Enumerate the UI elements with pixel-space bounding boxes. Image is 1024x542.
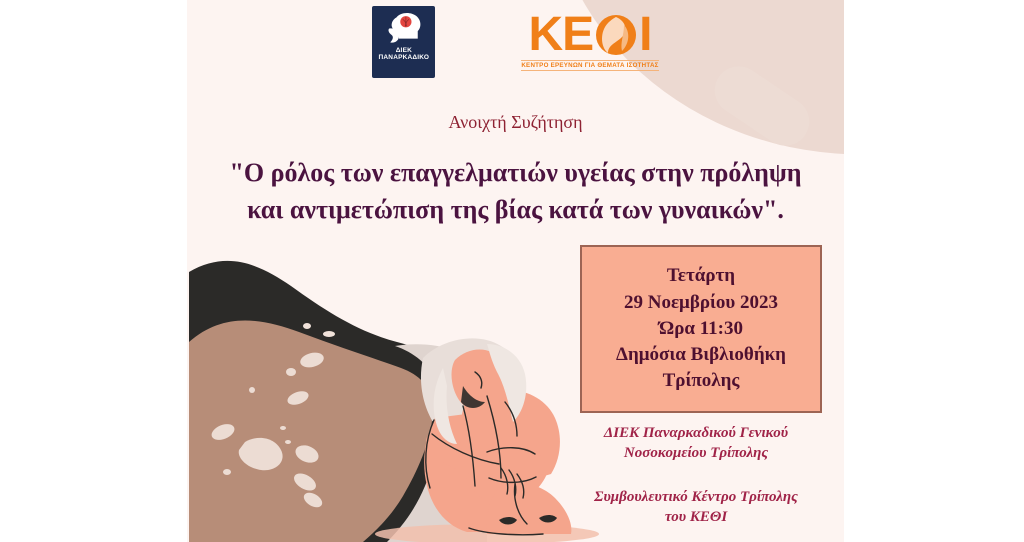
credit-1-line-2: Νοσοκομείου Τρίπολης [565,444,827,464]
logo-diek-panarkadiko: ΔΙΕΚ ΠΑΝΑΡΚΑΔΙΚΟ [372,6,435,78]
title-seg-2a: και αντι [247,195,336,224]
title-seg-2e: ιση της βίας κατά των γυναικών". [407,195,784,224]
logo-diek-line1: ΔΙΕΚ [396,47,412,54]
credit-2-line-1: Συμβουλευτικό Κέντρο Τρίπολης [565,488,827,508]
credit-1-line-1: ΔΙΕΚ Παναρκαδικού Γενικού [565,424,827,444]
event-date: 29 Νοεμβρίου 2023 [624,290,778,316]
organiser-credits: ΔΙΕΚ Παναρκαδικού Γενικού Νοσοκομείου Τρ… [565,424,827,528]
credit-2-line-2: του ΚΕΘΙ [565,508,827,528]
credit-block-2: Συμβουλευτικό Κέντρο Τρίπολης του ΚΕΘΙ [565,488,827,528]
logo-kethi-subtitle: ΚΕΝΤΡΟ ΕΡΕΥΝΩΝ ΓΙΑ ΘΕΜΑΤΑ ΙΣΟΤΗΤΑΣ [521,60,658,71]
title-seg-1e: ατιών υγείας στην [493,158,701,187]
poster-kicker: Ανοιχτή Συζήτηση [187,112,844,133]
logo-kethi-part1: KE [528,12,593,58]
credit-block-1: ΔΙΕΚ Παναρκαδικού Γενικού Νοσοκομείου Τρ… [565,424,827,464]
title-seg-1b: π [401,158,415,187]
event-venue-line2: Τρίπολης [663,368,740,394]
logo-diek-line2: ΠΑΝΑΡΚΑΔΙΚΟ [379,54,430,61]
head-brain-icon [384,11,424,45]
screenshot-canvas: ΔΙΕΚ ΠΑΝΑΡΚΑΔΙΚΟ KE I ΚΕΝΤΡΟ ΕΡΕΥΝΩΝ Γ [0,0,1024,542]
logo-row: ΔΙΕΚ ΠΑΝΑΡΚΑΔΙΚΟ KE I ΚΕΝΤΡΟ ΕΡΕΥΝΩΝ Γ [187,6,844,92]
logo-kethi: KE I ΚΕΝΤΡΟ ΕΡΕΥΝΩΝ ΓΙΑ ΘΕΜΑΤΑ ΙΣΟΤΗΤΑΣ [521,12,658,71]
title-seg-1f: π [700,158,714,187]
title-seg-1g: ρόληψη [714,158,801,187]
theta-circle-icon [594,13,638,57]
title-seg-2c: ετώ [351,195,393,224]
poster-title-line-2: και αντιμετώπιση της βίας κατά των γυναι… [217,192,814,229]
illustration-seated-woman [187,246,607,542]
title-seg-2b: μ [336,195,351,224]
logo-kethi-wordmark: KE I [528,12,651,58]
poster-title: "Ο ρόλος των επαγγελματιών υγείας στην π… [217,155,814,229]
event-time: Ώρα 11:30 [659,316,743,342]
logo-kethi-part2: I [639,12,651,58]
event-venue-line1: Δημόσια Βιβλιοθήκη [616,342,786,368]
title-seg-2d: π [393,195,407,224]
title-seg-1c: αγγελ [415,158,478,187]
poster-title-line-1: "Ο ρόλος των επαγγελματιών υγείας στην π… [217,155,814,192]
title-seg-1a: "Ο ρόλος των ε [229,158,401,187]
title-seg-1d: μ [478,158,493,187]
event-poster: ΔΙΕΚ ΠΑΝΑΡΚΑΔΙΚΟ KE I ΚΕΝΤΡΟ ΕΡΕΥΝΩΝ Γ [187,0,844,542]
event-day: Τετάρτη [667,263,735,289]
event-details-box: Τετάρτη 29 Νοεμβρίου 2023 Ώρα 11:30 Δημό… [580,245,822,413]
